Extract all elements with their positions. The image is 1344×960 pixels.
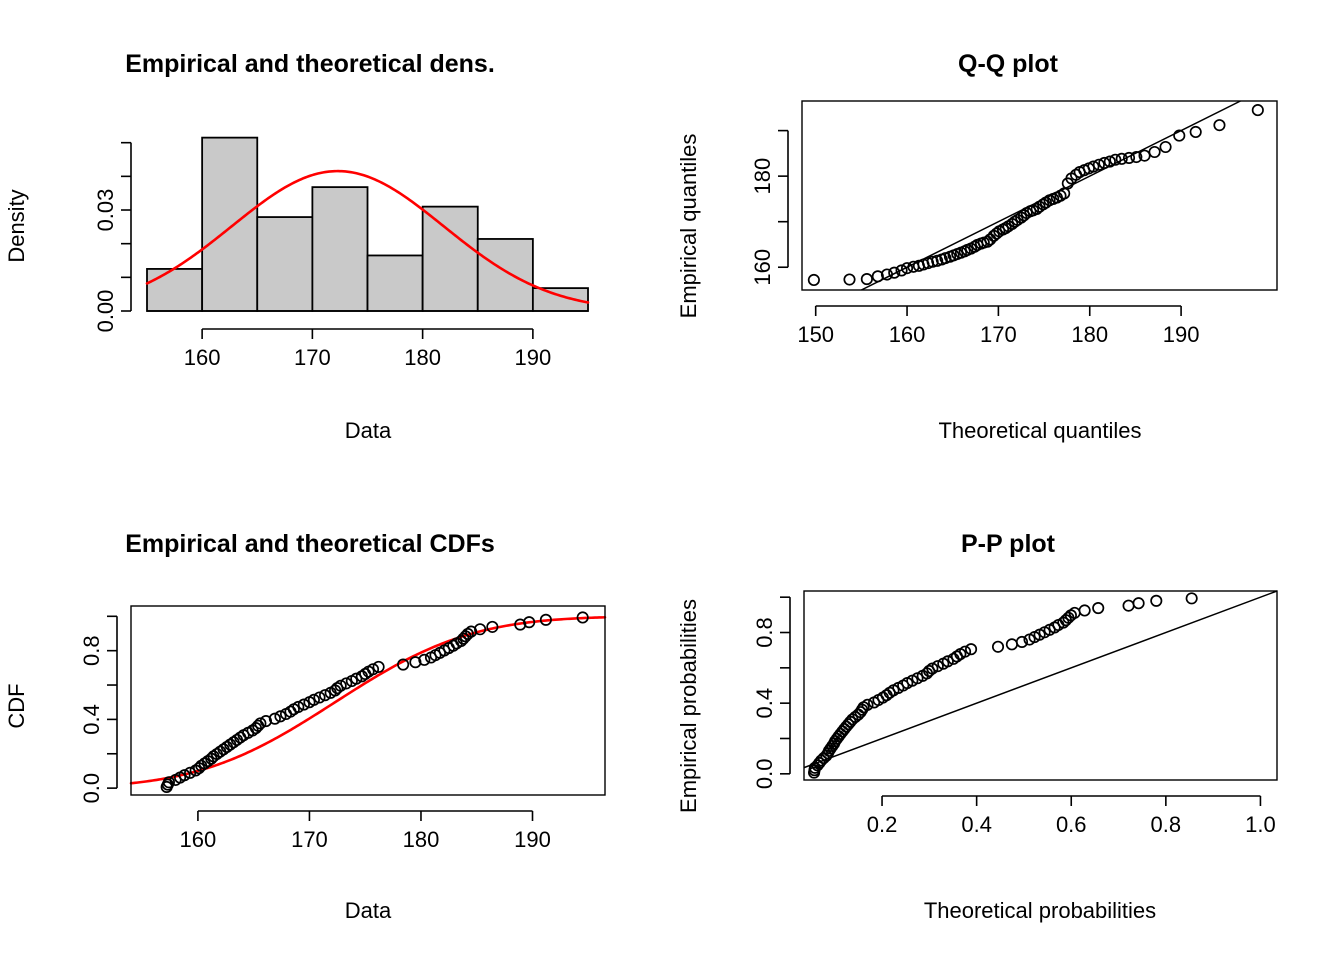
qq-data-point [1149, 147, 1159, 157]
figure-canvas: Empirical and theoretical dens. Data Den… [0, 0, 1344, 960]
histogram-bar [368, 255, 423, 311]
pp-ytick-label: 0.4 [752, 688, 777, 719]
qq-xtick-label: 180 [1071, 322, 1108, 347]
cdf-axes: 0.00.40.8160170180190 [79, 606, 605, 852]
panel-empirical-theoretical-density: Empirical and theoretical dens. Data Den… [0, 0, 672, 480]
pp-identity-line [804, 591, 1277, 768]
pp-axes: 0.00.40.80.20.40.60.81.0 [752, 591, 1277, 837]
qq-data-point [862, 274, 872, 284]
density-xtick-label: 170 [294, 345, 331, 370]
qq-data-point [1253, 105, 1263, 115]
pp-data-point [966, 644, 976, 654]
cdf-points [161, 612, 587, 792]
qq-x-axis-label: Theoretical quantiles [938, 418, 1141, 443]
cdf-plot-title: Empirical and theoretical CDFs [125, 530, 495, 558]
pp-xtick-label: 0.6 [1056, 812, 1087, 837]
density-xtick-label: 180 [404, 345, 441, 370]
pp-x-axis-label: Theoretical probabilities [924, 898, 1156, 923]
qq-xtick-label: 190 [1163, 322, 1200, 347]
pp-ytick-label: 0.0 [752, 759, 777, 790]
qq-plot-svg: Q-Q plot Theoretical quantiles Empirical… [672, 0, 1344, 480]
density-ytick-label: 0.03 [93, 189, 118, 232]
pp-points [809, 593, 1197, 778]
pp-data-point [1007, 639, 1017, 649]
density-y-axis-label: Density [4, 189, 29, 262]
cdf-xtick-label: 180 [403, 827, 440, 852]
panel-pp-plot: P-P plot Theoretical probabilities Empir… [672, 480, 1344, 960]
pp-plot-svg: P-P plot Theoretical probabilities Empir… [672, 480, 1344, 960]
pp-ytick-label: 0.8 [752, 617, 777, 648]
qq-data-point [1160, 142, 1170, 152]
pp-xtick-label: 0.8 [1151, 812, 1182, 837]
cdf-plot-svg: Empirical and theoretical CDFs Data CDF … [0, 480, 672, 960]
qq-points [809, 105, 1263, 285]
pp-data-point [1133, 598, 1143, 608]
cdf-xtick-label: 160 [180, 827, 217, 852]
qq-data-point [809, 275, 819, 285]
histogram-bar [423, 207, 478, 311]
pp-data-point [1186, 593, 1196, 603]
cdf-xtick-label: 190 [514, 827, 551, 852]
pp-data-point [1151, 596, 1161, 606]
pp-data-point [993, 642, 1003, 652]
panel-empirical-theoretical-cdf: Empirical and theoretical CDFs Data CDF … [0, 480, 672, 960]
pp-xtick-label: 1.0 [1245, 812, 1276, 837]
density-xtick-label: 190 [515, 345, 552, 370]
histogram-bar [147, 269, 202, 311]
pp-xtick-label: 0.2 [867, 812, 898, 837]
histogram-bar [478, 239, 533, 311]
qq-data-point [1191, 127, 1201, 137]
qq-xtick-label: 170 [980, 322, 1017, 347]
pp-xtick-label: 0.4 [961, 812, 992, 837]
qq-xtick-label: 160 [889, 322, 926, 347]
qq-data-point [1214, 120, 1224, 130]
density-x-axis-label: Data [345, 418, 392, 443]
pp-data-point [1093, 603, 1103, 613]
qq-ytick-label: 160 [750, 249, 775, 286]
panel-qq-plot: Q-Q plot Theoretical quantiles Empirical… [672, 0, 1344, 480]
qq-y-axis-label: Empirical quantiles [676, 134, 701, 319]
pp-reference-line [804, 591, 1277, 768]
cdf-y-axis-label: CDF [4, 683, 29, 728]
density-plot-title: Empirical and theoretical dens. [125, 50, 495, 78]
density-bars [147, 138, 588, 311]
pp-data-point [1079, 605, 1089, 615]
cdf-ytick-label: 0.4 [79, 704, 104, 735]
cdf-x-axis-label: Data [345, 898, 392, 923]
qq-plot-title: Q-Q plot [958, 50, 1059, 78]
cdf-ytick-label: 0.0 [79, 773, 104, 804]
density-plot-svg: Empirical and theoretical dens. Data Den… [0, 0, 672, 480]
histogram-bar [257, 217, 312, 311]
pp-y-axis-label: Empirical probabilities [676, 599, 701, 813]
density-xtick-label: 160 [184, 345, 221, 370]
qq-data-point [844, 274, 854, 284]
qq-xtick-label: 150 [797, 322, 834, 347]
pp-data-point [1123, 600, 1133, 610]
pp-plot-title: P-P plot [961, 530, 1056, 558]
cdf-xtick-label: 170 [291, 827, 328, 852]
qq-data-point [889, 267, 899, 277]
histogram-bar [312, 187, 367, 311]
qq-ytick-label: 180 [750, 158, 775, 195]
histogram-bar [202, 138, 257, 311]
cdf-ytick-label: 0.8 [79, 635, 104, 666]
density-ytick-label: 0.00 [93, 290, 118, 333]
